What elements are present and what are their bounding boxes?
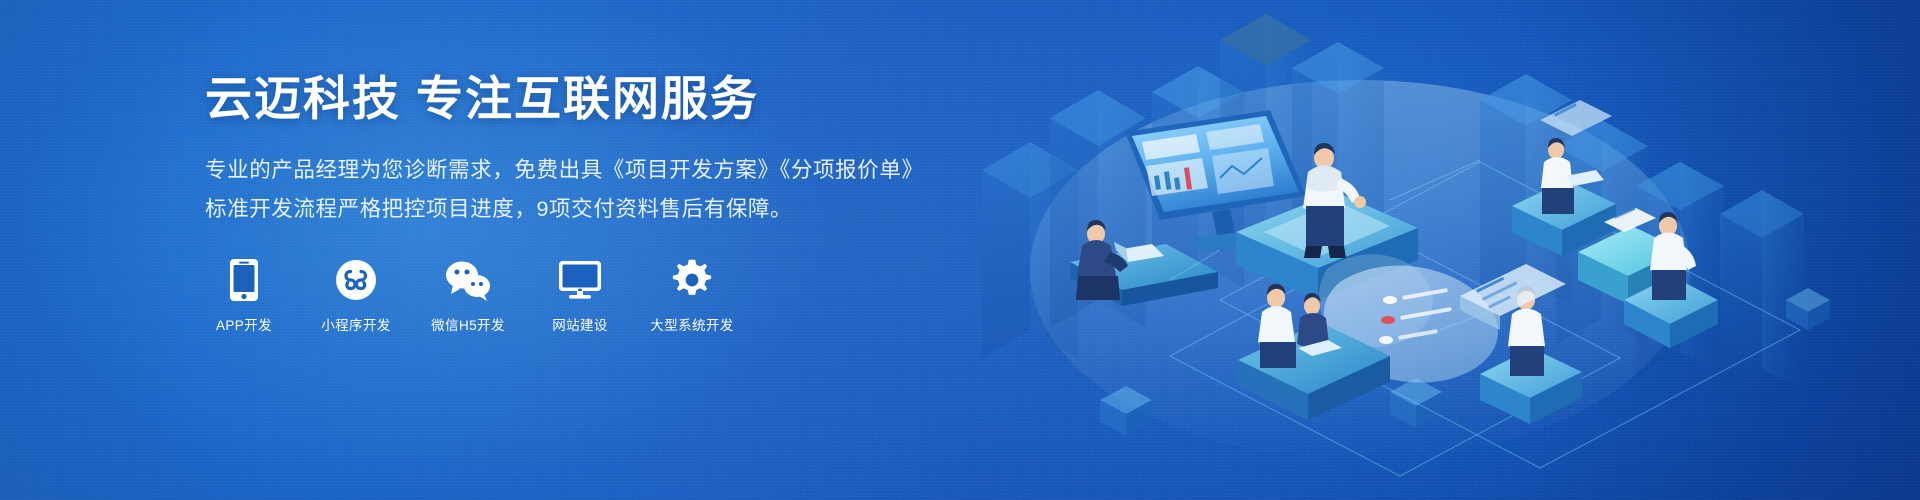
subtitle-line-2: 标准开发流程严格把控项目进度，9项交付资料售后有保障。 (205, 190, 1105, 228)
mobile-phone-icon (229, 258, 259, 302)
service-label-miniprogram: 小程序开发 (321, 314, 391, 334)
service-label-app: APP开发 (216, 314, 272, 334)
banner-title: 云迈科技 专注互联网服务 (205, 70, 1105, 129)
wechat-icon (444, 258, 492, 302)
service-label-wechat: 微信H5开发 (431, 314, 505, 334)
service-item-wechat[interactable]: 微信H5开发 (429, 258, 507, 334)
service-list: APP开发 小程序开发 (205, 258, 1105, 334)
mini-program-icon (335, 258, 377, 302)
service-label-system: 大型系统开发 (650, 314, 733, 334)
service-item-app[interactable]: APP开发 (205, 258, 283, 334)
banner-subtitle: 专业的产品经理为您诊断需求，免费出具《项目开发方案》《分项报价单》 标准开发流程… (205, 151, 1105, 229)
service-label-website: 网站建设 (552, 314, 608, 334)
monitor-icon (558, 258, 602, 302)
service-item-website[interactable]: 网站建设 (541, 258, 619, 334)
promotional-banner: 云迈科技 专注互联网服务 专业的产品经理为您诊断需求，免费出具《项目开发方案》《… (0, 0, 1920, 500)
service-item-system[interactable]: 大型系统开发 (653, 258, 731, 334)
gear-icon (671, 258, 713, 302)
subtitle-line-1: 专业的产品经理为您诊断需求，免费出具《项目开发方案》《分项报价单》 (205, 151, 1105, 189)
banner-content: 云迈科技 专注互联网服务 专业的产品经理为您诊断需求，免费出具《项目开发方案》《… (205, 70, 1105, 334)
service-item-miniprogram[interactable]: 小程序开发 (317, 258, 395, 334)
